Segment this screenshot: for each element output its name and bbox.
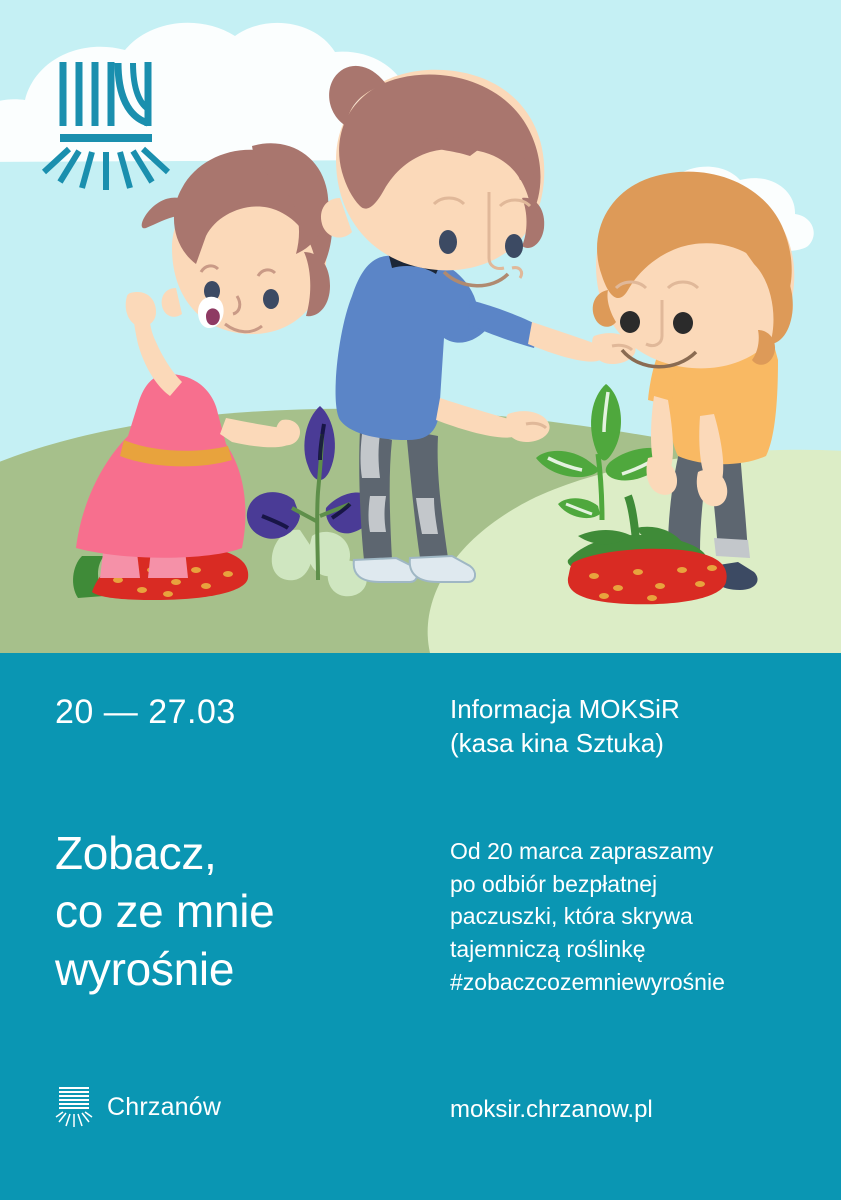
body-line-5-hashtag: #zobaczcozemniewyrośnie [450, 966, 725, 999]
brand-name: Chrzanów [107, 1093, 221, 1122]
venue-info-line-1: Informacja MOKSiR [450, 693, 680, 727]
illustration-area [0, 0, 841, 653]
body-line-4: tajemniczą roślinkę [450, 933, 725, 966]
headline-line-2: co ze mnie [55, 883, 274, 941]
info-panel: 20 — 27.03 Informacja MOKSiR (kasa kina … [0, 653, 841, 1200]
chrzanow-logo-icon [55, 1085, 95, 1129]
body-line-2: po odbiór bezpłatnej [450, 868, 725, 901]
poster: 20 — 27.03 Informacja MOKSiR (kasa kina … [0, 0, 841, 1200]
body-line-1: Od 20 marca zapraszamy [450, 835, 725, 868]
headline-line-1: Zobacz, [55, 825, 274, 883]
site-url-link[interactable]: moksir.chrzanow.pl [450, 1096, 653, 1124]
date-range: 20 — 27.03 [55, 693, 236, 732]
body-copy: Od 20 marca zapraszamy po odbiór bezpłat… [450, 835, 725, 998]
headline: Zobacz, co ze mnie wyrośnie [55, 825, 274, 999]
venue-info-line-2: (kasa kina Sztuka) [450, 727, 680, 761]
body-line-3: paczuszki, która skrywa [450, 900, 725, 933]
headline-line-3: wyrośnie [55, 941, 274, 999]
venue-info: Informacja MOKSiR (kasa kina Sztuka) [450, 693, 680, 761]
footer-brand: Chrzanów [55, 1085, 221, 1129]
